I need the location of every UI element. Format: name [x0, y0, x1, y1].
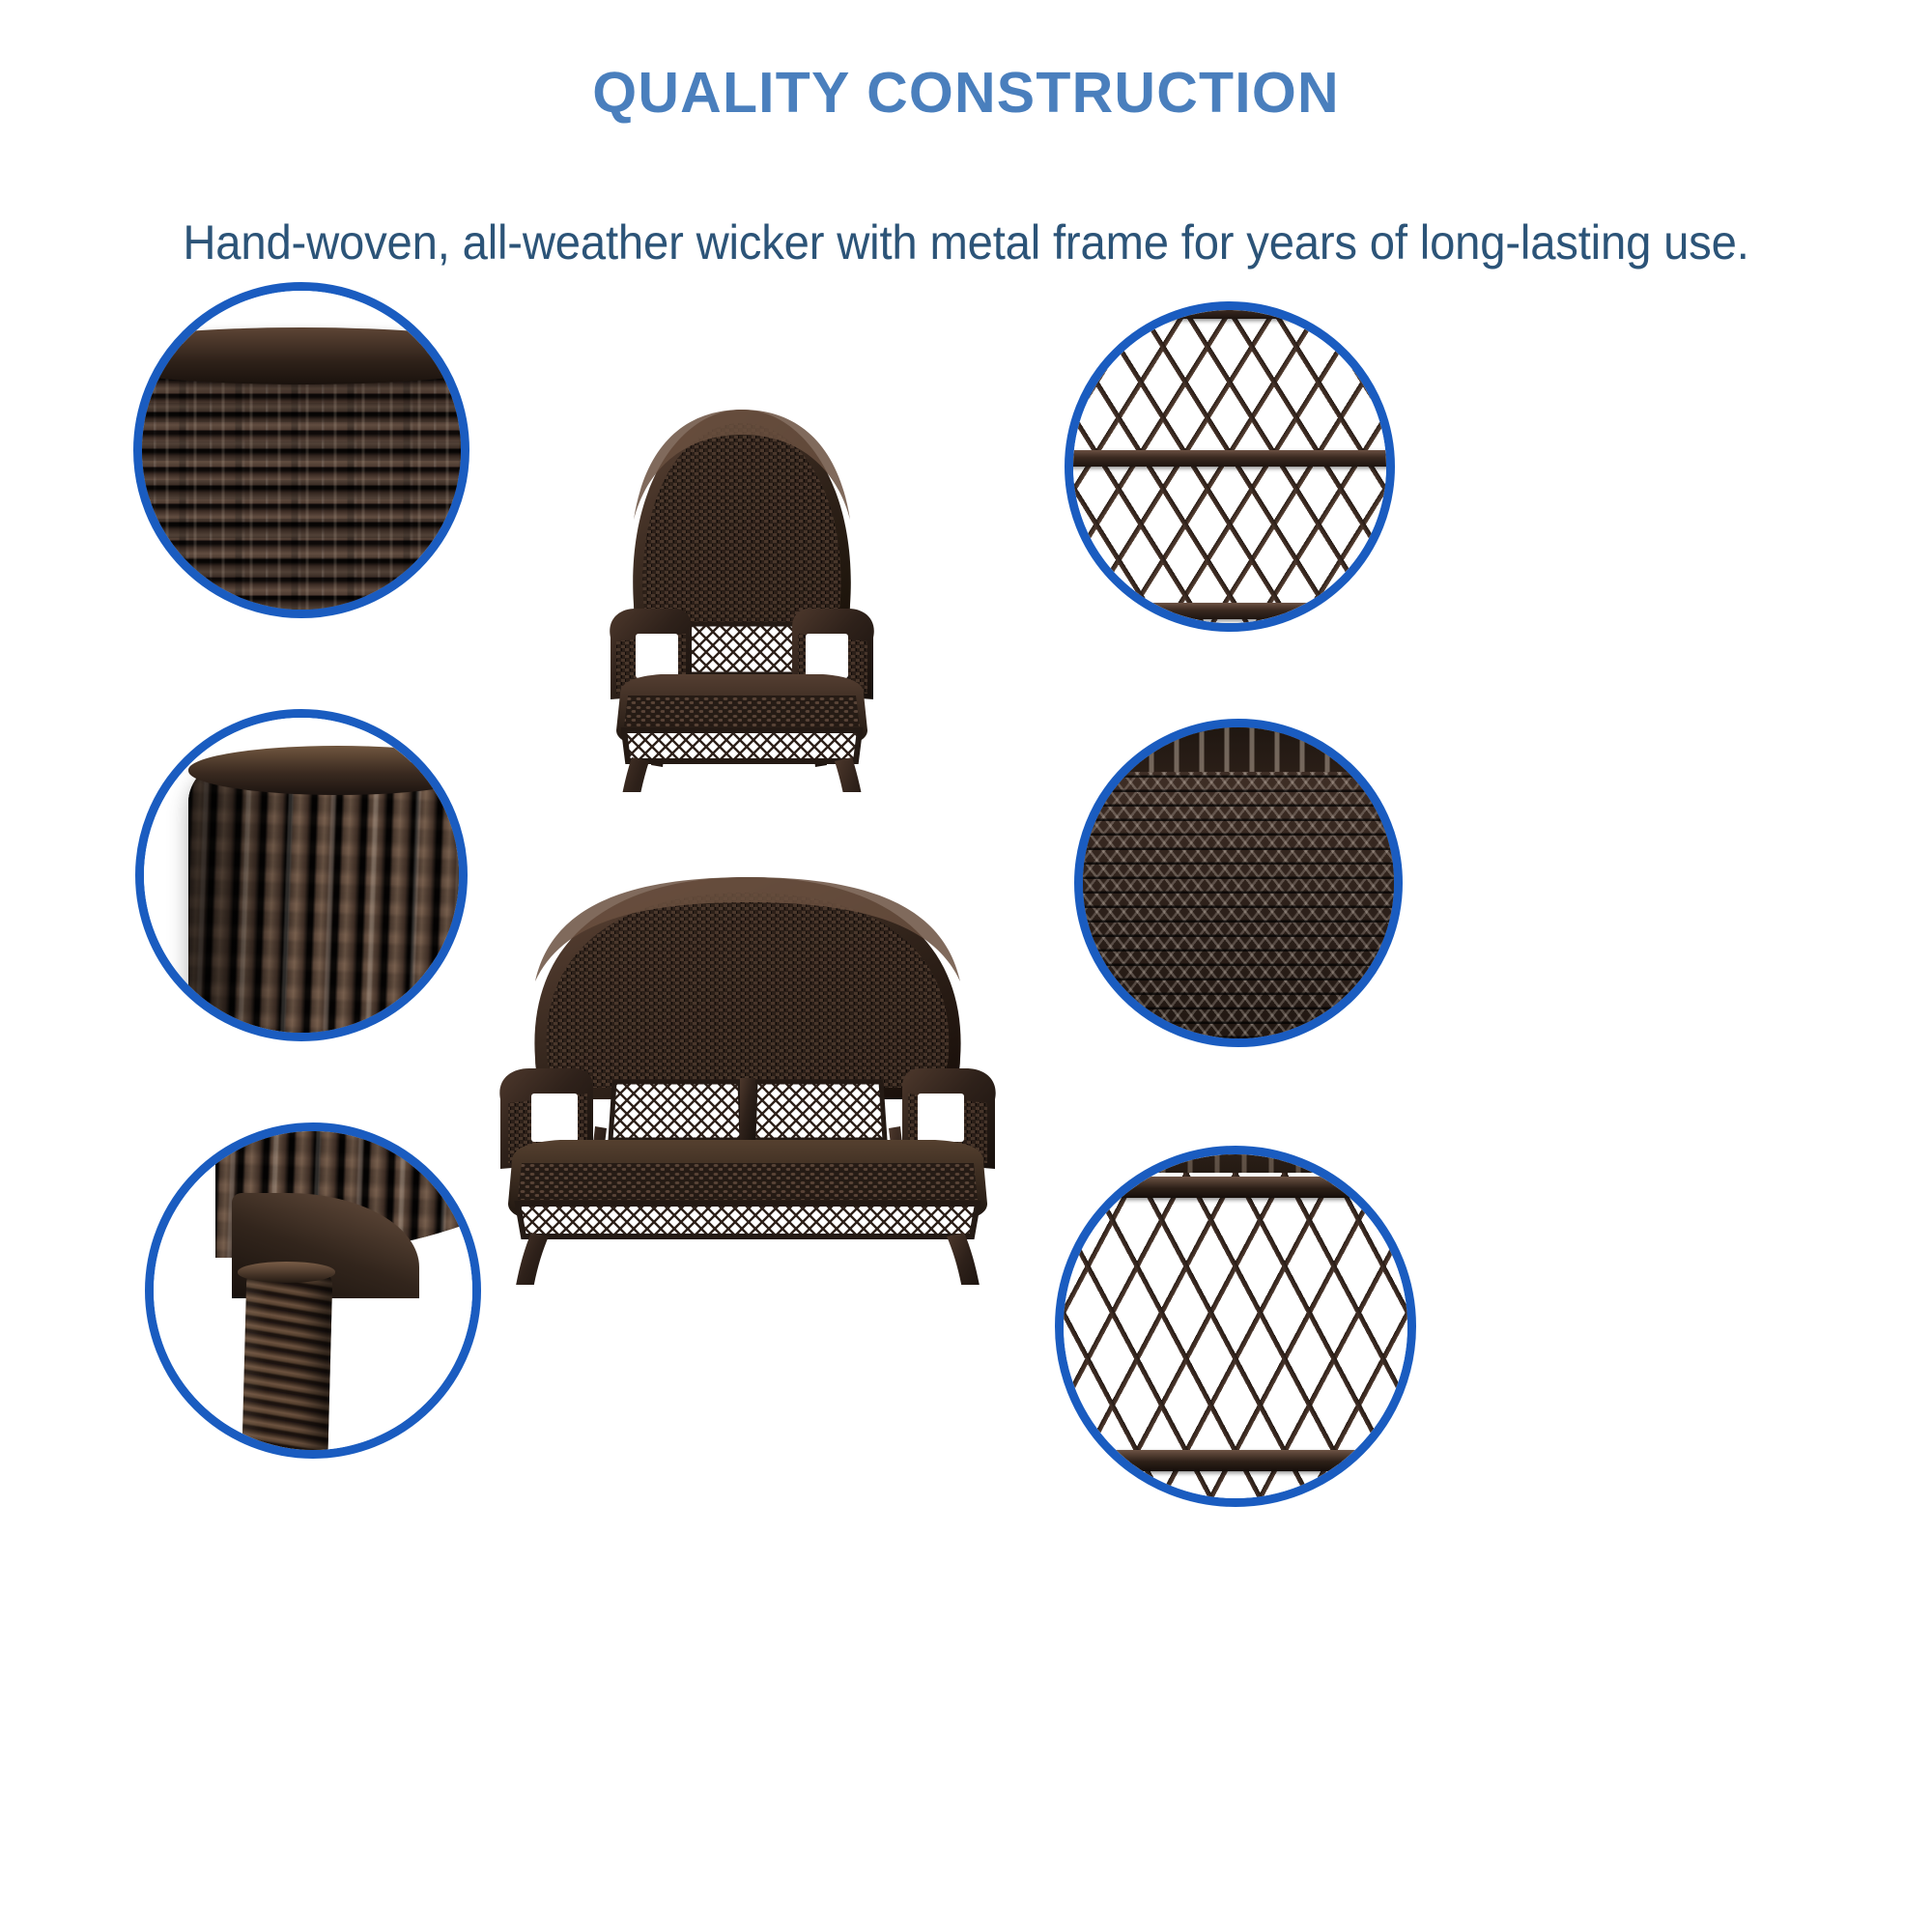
arm-shadow-left [188, 762, 290, 1041]
lattice-rail-middle [1065, 450, 1395, 467]
wicker-loveseat [471, 850, 1024, 1285]
callout-mid-right-image [1074, 719, 1403, 1047]
callout-top-right-diamond-lattice [1065, 301, 1395, 632]
callout-top-left-basket-weave [133, 282, 469, 618]
callout-bottom-left-wrapped-leg [145, 1122, 481, 1459]
x-lattice-top-band [1055, 1146, 1416, 1173]
callout-top-right-image [1065, 301, 1395, 632]
callout-mid-left-image [135, 709, 468, 1041]
page-title: QUALITY CONSTRUCTION [0, 60, 1932, 126]
basket-top-rail [133, 327, 469, 384]
leg-coil-shaft [241, 1269, 333, 1459]
callout-top-left-image [133, 282, 469, 618]
chevron-top-band [1074, 719, 1403, 772]
callout-bottom-right-image [1055, 1146, 1416, 1507]
lattice-rail-top [1065, 302, 1395, 319]
leg-collar [238, 1262, 335, 1282]
callout-bottom-right-x-lattice [1055, 1146, 1416, 1507]
infographic-page: QUALITY CONSTRUCTION Hand-woven, all-wea… [0, 0, 1932, 1932]
arm-block [188, 762, 468, 1041]
texture-horizontal-basket-weave [133, 344, 469, 618]
x-lattice-rail-bottom [1055, 1450, 1416, 1471]
callout-mid-right-chevron-weave [1074, 719, 1403, 1047]
callout-bottom-left-image [145, 1122, 481, 1459]
page-subtitle: Hand-woven, all-weather wicker with meta… [53, 214, 1879, 270]
arm-rolled-edge [188, 746, 468, 794]
x-lattice-rail-top [1055, 1177, 1416, 1198]
lattice-rail-bottom [1065, 603, 1395, 619]
wicker-armchair [578, 375, 906, 792]
callout-mid-left-arm-corner [135, 709, 468, 1041]
